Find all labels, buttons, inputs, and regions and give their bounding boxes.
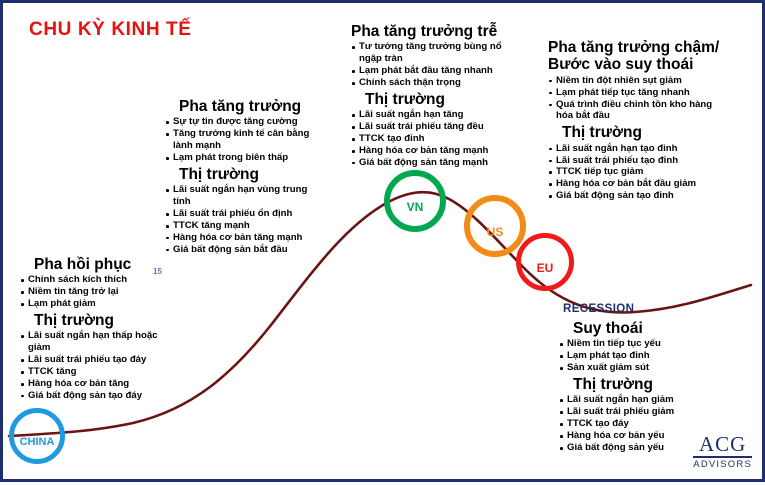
expansion-heading: Pha tăng trưởng: [165, 98, 340, 115]
list-item: Lạm phát tạo đỉnh: [559, 350, 759, 362]
list-item: Tăng trưởng kinh tế cân bằng: [165, 128, 340, 140]
late-market-bullets: Lãi suất ngắn hạn tăng Lãi suất trái phi…: [351, 109, 536, 168]
list-item: Lãi suất ngắn hạn tăng: [351, 109, 536, 121]
list-item: TTCK tạo đỉnh: [351, 133, 536, 145]
list-item: Lạm phát trong biên thấp: [165, 152, 340, 164]
list-item: TTCK tăng: [20, 366, 180, 378]
list-item: Hàng hóa cơ bản tăng mạnh: [165, 232, 340, 244]
expansion-bullets: Sự tự tin được tăng cường Tăng trưởng ki…: [165, 116, 340, 164]
expansion-market-bullets: Lãi suất ngắn hạn vùng trung tính Lãi su…: [165, 184, 340, 255]
list-item: Lãi suất ngắn hạn thấp hoặc: [20, 330, 180, 342]
phase-block-slowdown: Pha tăng trưởng chậm/ Bước vào suy thoái…: [548, 39, 748, 202]
phase-block-expansion: Pha tăng trưởng Sự tự tin được tăng cườn…: [165, 98, 340, 256]
recovery-market-bullets: Lãi suất ngắn hạn thấp hoặc giảm Lãi suấ…: [20, 330, 180, 401]
list-item: Lãi suất trái phiếu tăng đều: [351, 121, 536, 133]
recovery-bullets: Chính sách kích thích Niềm tin tăng trở …: [20, 274, 180, 310]
marker-label-china: CHINA: [20, 436, 55, 448]
list-item: Lãi suất trái phiếu ổn định: [165, 208, 340, 220]
slowdown-bullets: Niềm tin đột nhiên sụt giảm Lạm phát tiế…: [548, 75, 748, 123]
list-item: Lãi suất trái phiếu tạo đỉnh: [548, 155, 748, 167]
list-item-continuation: hóa bắt đầu: [548, 110, 748, 122]
list-item: Niềm tin tăng trở lại: [20, 286, 180, 298]
marker-circle-china: CHINA: [9, 408, 65, 464]
list-item: Giá bất động sản tạo đỉnh: [548, 190, 748, 202]
list-item-continuation: tính: [165, 196, 340, 208]
marker-label-us: US: [487, 225, 504, 239]
list-item: Tư tưởng tăng trưởng bùng nổ: [351, 41, 536, 53]
list-item: Chính sách kích thích: [20, 274, 180, 286]
logo-name: ACG: [693, 434, 752, 458]
recession-heading: Suy thoái: [559, 320, 759, 337]
slowdown-subheading: Thị trường: [548, 124, 748, 141]
phase-block-late-expansion: Pha tăng trưởng trễ Tư tưởng tăng trưởng…: [351, 23, 536, 169]
expansion-subheading: Thị trường: [165, 166, 340, 183]
list-item: Lãi suất trái phiếu tạo đáy: [20, 354, 180, 366]
list-item: TTCK tạo đáy: [559, 418, 759, 430]
list-item: Sự tự tin được tăng cường: [165, 116, 340, 128]
marker-circle-eu: EU: [516, 233, 574, 291]
list-item: Hàng hóa cơ bản bắt đầu giảm: [548, 178, 748, 190]
acg-advisors-logo: ACG ADVISORS: [693, 434, 752, 471]
list-item: Sản xuất giảm sút: [559, 362, 759, 374]
logo-tagline: ADVISORS: [693, 458, 752, 471]
marker-label-vn: VN: [407, 200, 424, 214]
recovery-subheading: Thị trường: [20, 312, 180, 329]
list-item: Lãi suất ngắn hạn tạo đỉnh: [548, 143, 748, 155]
list-item: Giá bất động sản tăng mạnh: [351, 157, 536, 169]
late-heading: Pha tăng trưởng trễ: [351, 23, 536, 40]
list-item: TTCK tiếp tục giảm: [548, 166, 748, 178]
slowdown-heading: Pha tăng trưởng chậm/ Bước vào suy thoái: [548, 39, 748, 74]
list-item: Niềm tin đột nhiên sụt giảm: [548, 75, 748, 87]
list-item: Lạm phát giảm: [20, 298, 180, 310]
list-item: Chính sách thận trọng: [351, 77, 536, 89]
late-subheading: Thị trường: [351, 91, 536, 108]
recession-label: RECESSION: [563, 303, 634, 315]
list-item-continuation: giảm: [20, 342, 180, 354]
marker-label-eu: EU: [537, 261, 554, 275]
slowdown-market-bullets: Lãi suất ngắn hạn tạo đỉnh Lãi suất trái…: [548, 143, 748, 202]
marker-circle-us: US: [464, 195, 526, 257]
recession-bullets: Niềm tin tiếp tục yếu Lạm phát tạo đỉnh …: [559, 338, 759, 374]
list-item: Giá bất động sản tạo đáy: [20, 390, 180, 402]
list-item-continuation: lành mạnh: [165, 140, 340, 152]
list-item: Hàng hóa cơ bản tăng mạnh: [351, 145, 536, 157]
marker-circle-vn: VN: [384, 170, 446, 232]
list-item: Giá bất động sản bắt đầu: [165, 244, 340, 256]
list-item: Lạm phát bắt đầu tăng nhanh: [351, 65, 536, 77]
page-title: CHU KỲ KINH TẾ: [29, 19, 192, 41]
phase-block-recovery: Pha hồi phục Chính sách kích thích Niềm …: [20, 256, 180, 402]
list-item: Lãi suất ngắn hạn giảm: [559, 394, 759, 406]
list-item: Quá trình điều chỉnh tồn kho hàng: [548, 99, 748, 111]
list-item: Lạm phát tiếp tục tăng nhanh: [548, 87, 748, 99]
recovery-heading: Pha hồi phục: [20, 256, 180, 273]
list-item: Niềm tin tiếp tục yếu: [559, 338, 759, 350]
recession-subheading: Thị trường: [559, 376, 759, 393]
list-item: Lãi suất ngắn hạn vùng trung: [165, 184, 340, 196]
list-item-continuation: ngập tràn: [351, 53, 536, 65]
list-item: TTCK tăng mạnh: [165, 220, 340, 232]
economic-cycle-infographic: CHU KỲ KINH TẾ ·· ·· 15 Pha hồi phục Chí…: [0, 0, 765, 482]
list-item: Lãi suất trái phiếu giảm: [559, 406, 759, 418]
late-bullets: Tư tưởng tăng trưởng bùng nổ ngập tràn L…: [351, 41, 536, 89]
list-item: Hàng hóa cơ bản tăng: [20, 378, 180, 390]
